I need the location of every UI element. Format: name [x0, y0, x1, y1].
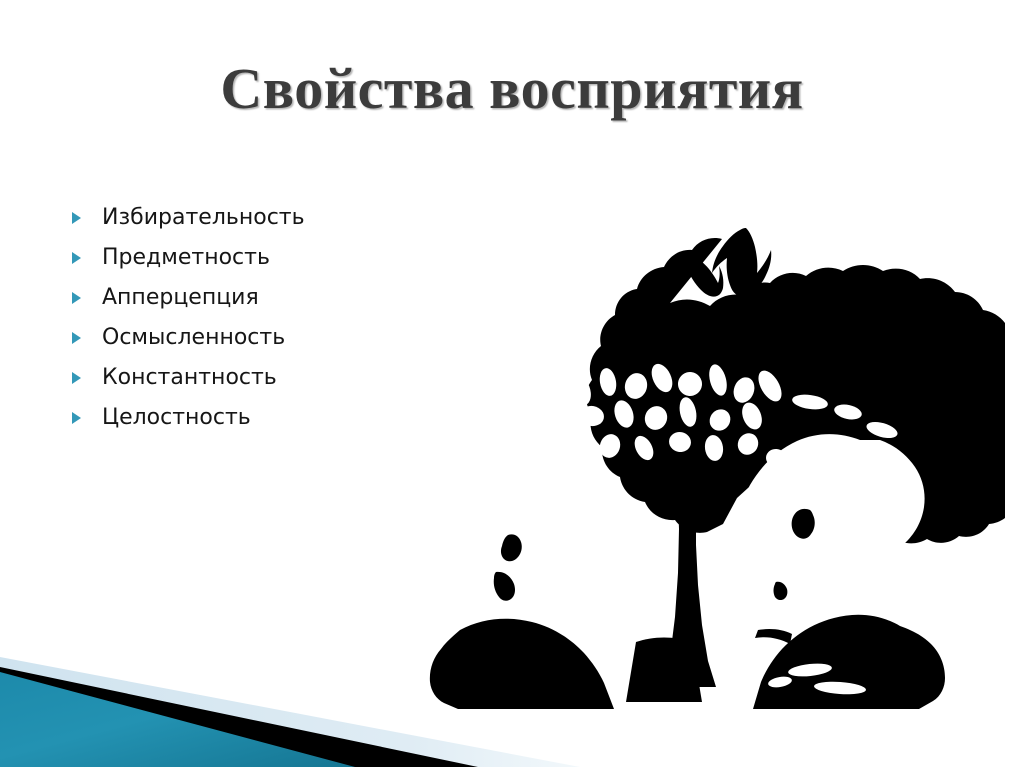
- tree-two-faces-illusion-image: [340, 190, 1005, 710]
- page-title: Свойства восприятия: [220, 60, 803, 118]
- tree-icon: [471, 399, 509, 418]
- list-item-label: Целостность: [102, 407, 251, 429]
- list-item-label: Апперцепция: [102, 287, 259, 309]
- tree-icon: [513, 391, 543, 409]
- triangle-right-icon: [68, 412, 102, 424]
- list-item-label: Предметность: [102, 247, 270, 269]
- list-item-label: Осмысленность: [102, 327, 285, 349]
- triangle-right-icon: [68, 212, 102, 224]
- triangle-right-icon: [68, 252, 102, 264]
- title-placeholder: Свойства восприятия: [0, 46, 1024, 132]
- teal-band: [0, 672, 355, 767]
- list-item-label: Константность: [102, 367, 277, 389]
- list-item-label: Избирательность: [102, 207, 305, 229]
- presentation-slide: Свойства восприятия Избирательность Пред…: [0, 0, 1024, 767]
- triangle-right-icon: [68, 292, 102, 304]
- triangle-right-icon: [68, 372, 102, 384]
- tree-icon: [626, 638, 702, 703]
- triangle-right-icon: [68, 332, 102, 344]
